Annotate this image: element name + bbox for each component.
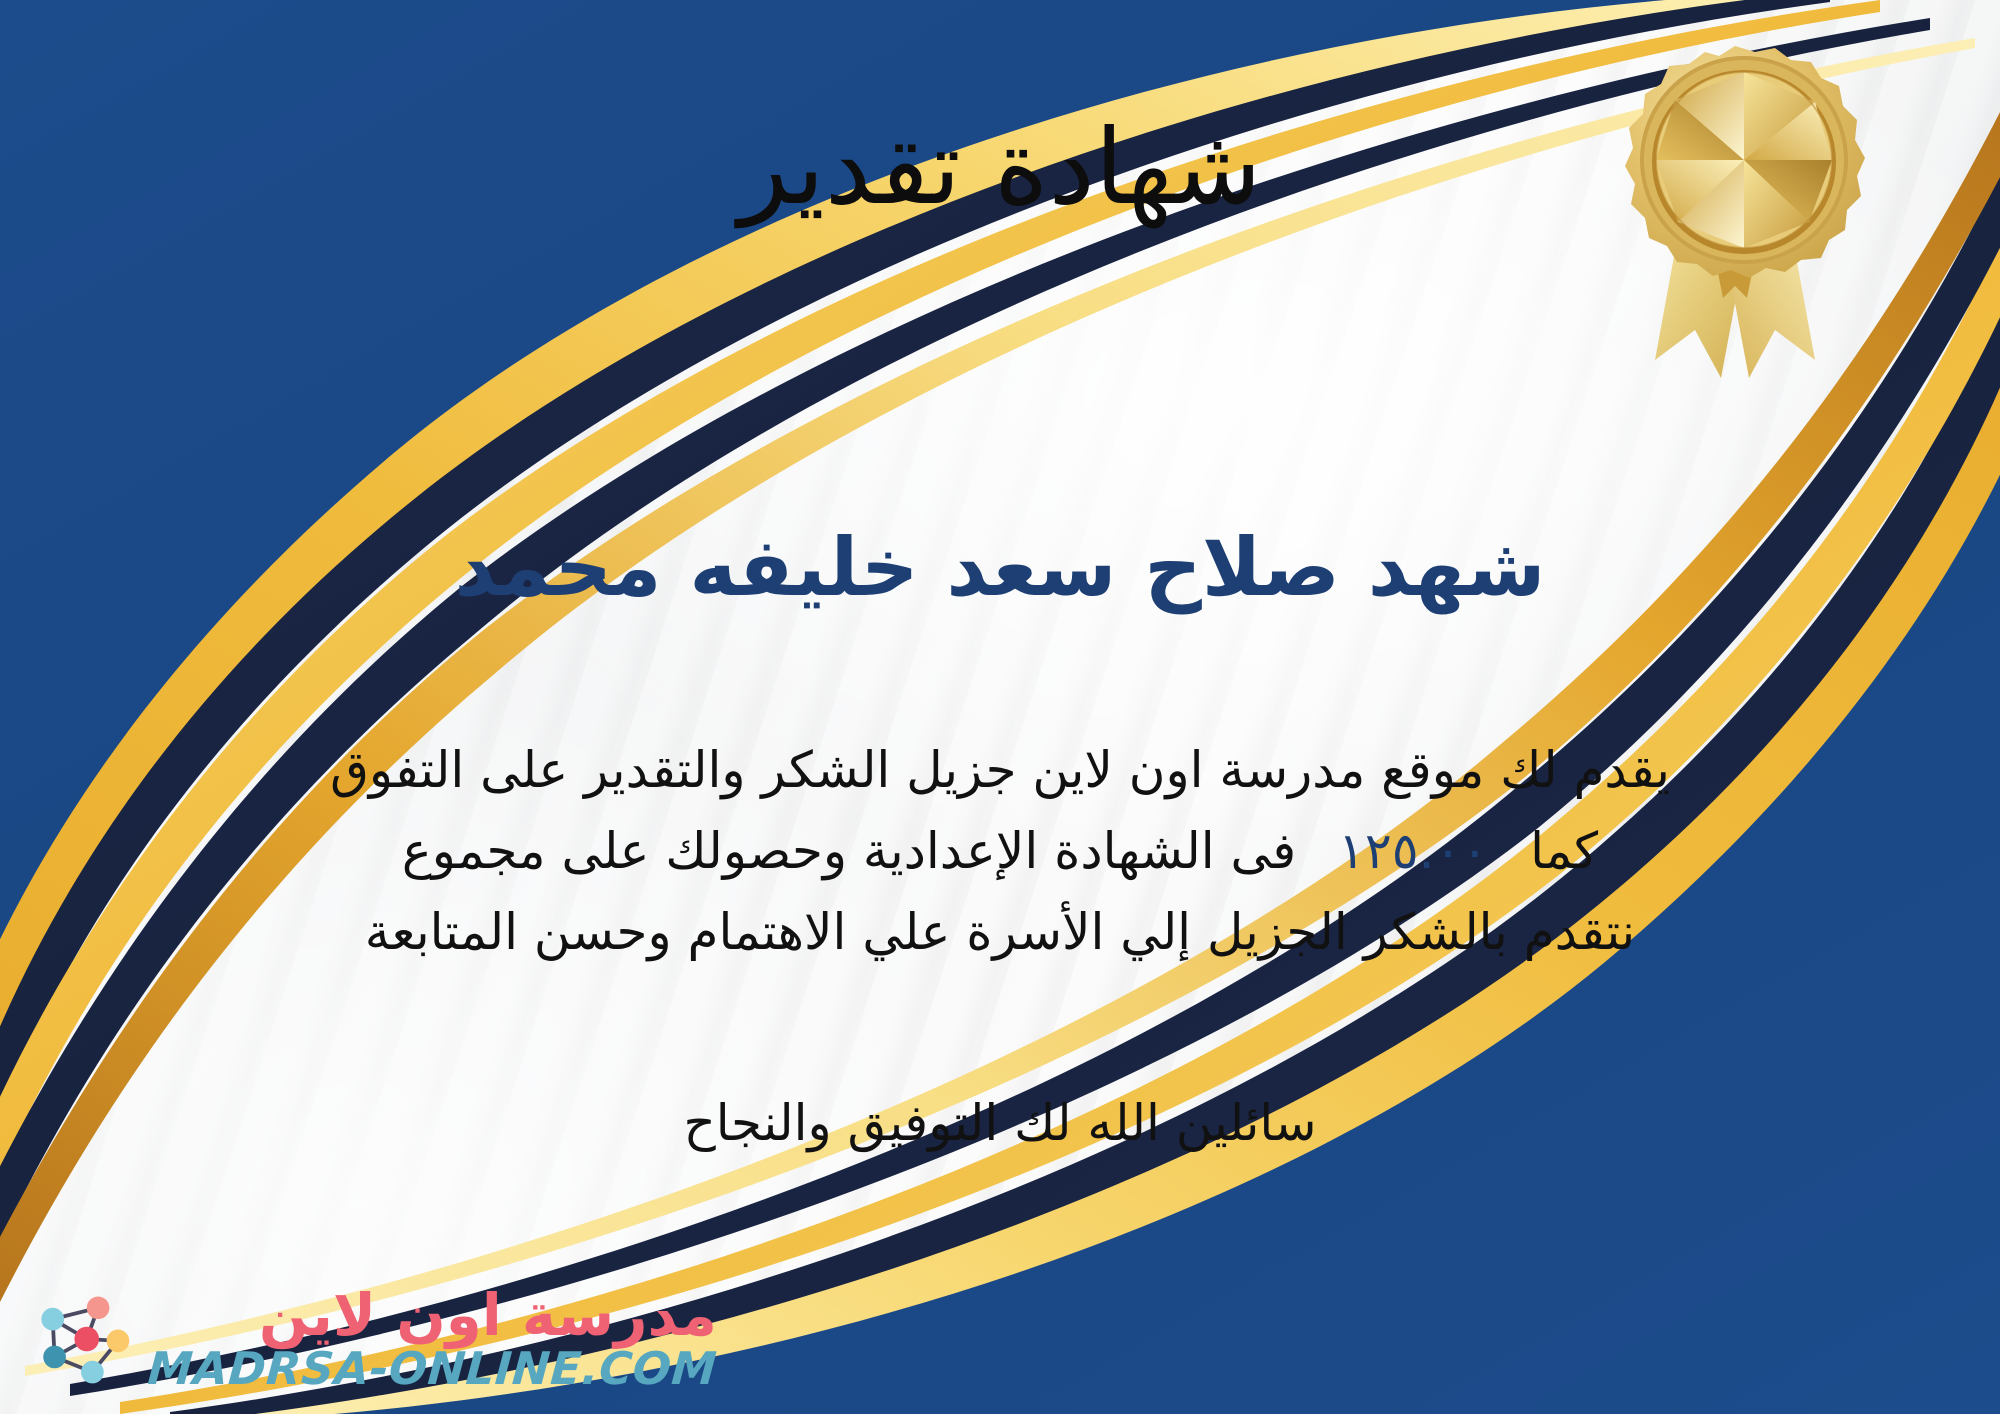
body-line-2: كما ١٢٥.٠٠ فى الشهادة الإعدادية وحصولك ع… (60, 811, 1940, 892)
body-line-1: يقدم لك موقع مدرسة اون لاين جزيل الشكر و… (60, 730, 1940, 811)
body-line-3: نتقدم بالشكر الجزيل إلي الأسرة علي الاهت… (60, 892, 1940, 973)
brand-name-latin: MADRSA-ONLINE.COM (146, 1345, 718, 1392)
grade-total-value: ١٢٥.٠٠ (1312, 822, 1514, 880)
body-line-2-prefix: فى الشهادة الإعدادية وحصولك على مجموع (402, 822, 1296, 880)
brand-name-arabic: مدرسة اون لاين (259, 1286, 717, 1345)
page-title: شهادة تقدير (0, 108, 2000, 228)
body-line-2-suffix: كما (1530, 822, 1598, 880)
brand-logo[interactable]: مدرسة اون لاين MADRSA-ONLINE.COM (30, 1286, 717, 1392)
certificate-page: شهادة تقدير شهد صلاح سعد خليفه محمد يقدم… (0, 0, 2000, 1414)
network-nodes-icon (30, 1287, 134, 1391)
recipient-name: شهد صلاح سعد خليفه محمد (0, 520, 2000, 616)
certificate-body: يقدم لك موقع مدرسة اون لاين جزيل الشكر و… (60, 730, 1940, 973)
closing-line: سائلين الله لك التوفيق والنجاح (60, 1094, 1940, 1152)
